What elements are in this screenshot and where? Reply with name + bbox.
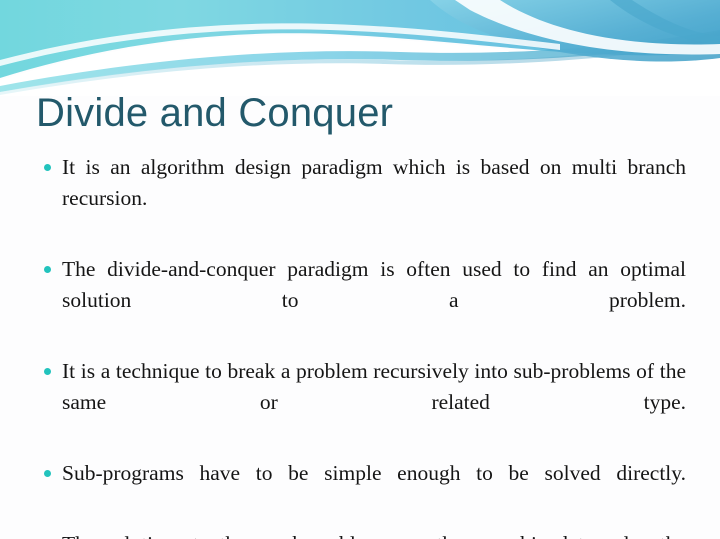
- wave-banner-svg: [0, 0, 720, 96]
- list-item-text: It is a technique to break a problem rec…: [62, 356, 686, 449]
- bullet-list: It is an algorithm design paradigm which…: [40, 152, 686, 539]
- bullet-dot-icon: [44, 368, 51, 375]
- list-item: Sub-programs have to be simple enough to…: [40, 458, 686, 520]
- list-item: It is a technique to break a problem rec…: [40, 356, 686, 449]
- list-item: The solutions to these sub-problems are …: [40, 529, 686, 539]
- list-item-text: The divide-and-conquer paradigm is often…: [62, 254, 686, 347]
- wave-banner-graphic: [0, 0, 720, 96]
- bullet-dot-icon: [44, 470, 51, 477]
- list-item-text: Sub-programs have to be simple enough to…: [62, 458, 686, 520]
- list-item: It is an algorithm design paradigm which…: [40, 152, 686, 245]
- bullet-dot-icon: [44, 266, 51, 273]
- bullet-dot-icon: [44, 164, 51, 171]
- list-item: The divide-and-conquer paradigm is often…: [40, 254, 686, 347]
- list-item-text: The solutions to these sub-problems are …: [62, 529, 686, 539]
- presentation-slide: Divide and Conquer It is an algorithm de…: [0, 0, 720, 539]
- slide-title: Divide and Conquer: [36, 88, 393, 138]
- list-item-text: It is an algorithm design paradigm which…: [62, 152, 686, 245]
